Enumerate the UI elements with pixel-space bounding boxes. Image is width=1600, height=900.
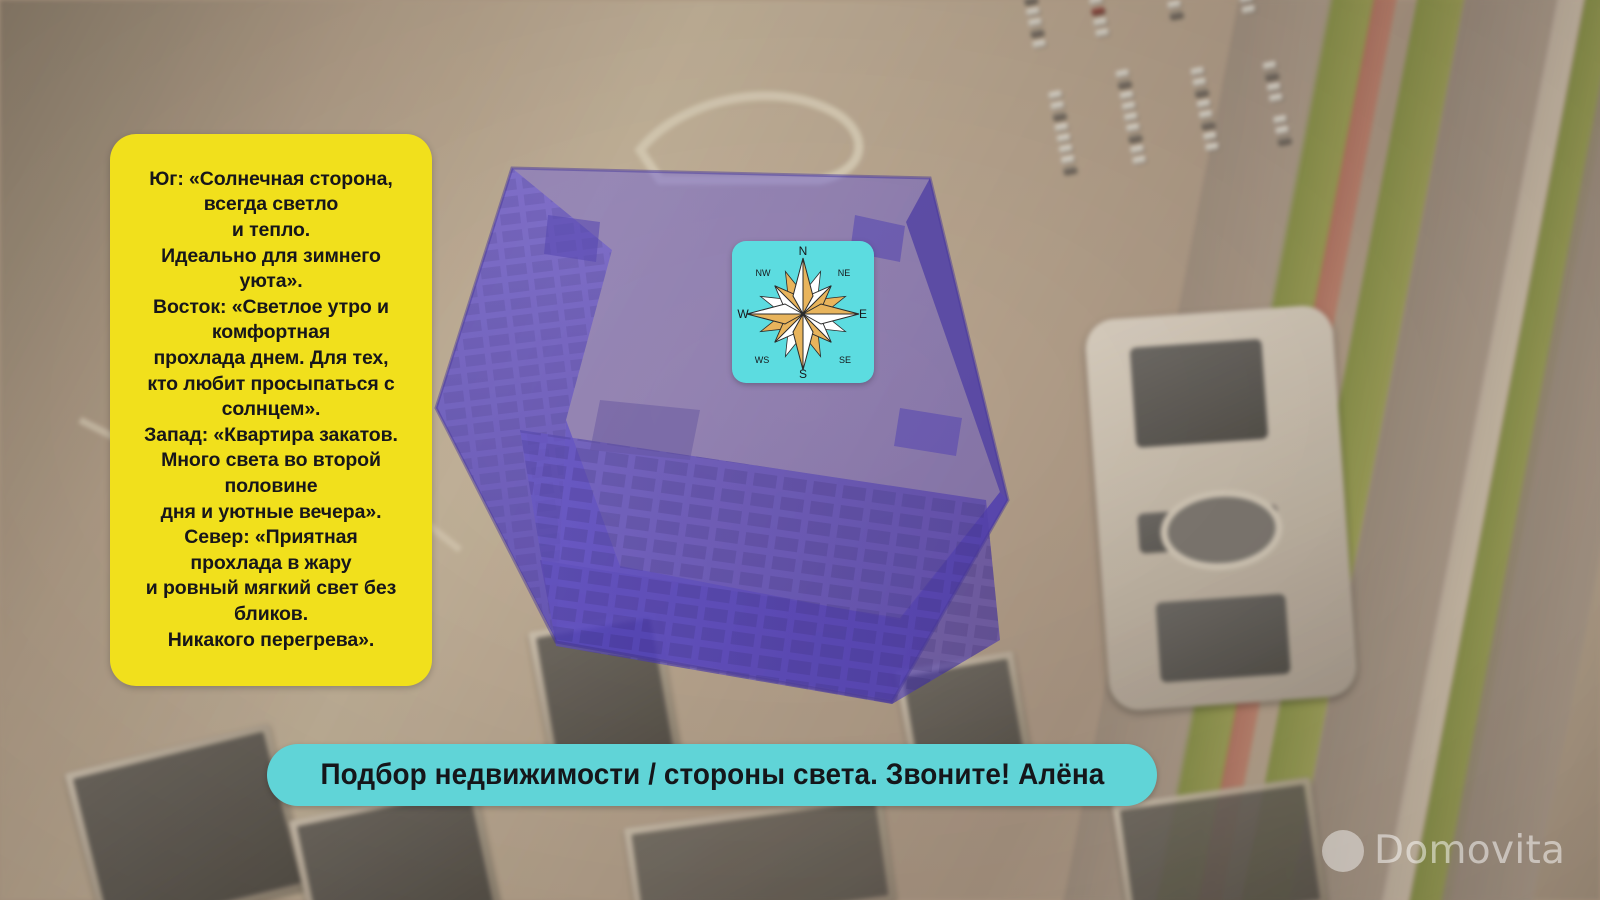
compass-directions-info-card: Юг: «Солнечная сторона, всегда светло и … [110, 134, 432, 686]
compass-rose-icon: N NE E SE S WS W NW [732, 241, 874, 383]
cta-banner-text: Подбор недвижимости / стороны света. Зво… [320, 758, 1104, 792]
compass-label-south: S [799, 367, 807, 381]
compass-label-northeast: NE [838, 268, 851, 278]
compass-label-southeast: SE [839, 355, 851, 365]
compass-rose-card: N NE E SE S WS W NW [732, 241, 874, 383]
circular-courtyard [1158, 486, 1285, 574]
domovita-watermark: Domovita [1322, 828, 1565, 873]
compass-label-east: E [859, 307, 867, 321]
watermark-text: Domovita [1374, 828, 1565, 873]
call-to-action-banner[interactable]: Подбор недвижимости / стороны света. Зво… [267, 744, 1157, 806]
courtyard-building-complex [1084, 304, 1359, 712]
compass-label-southwest: WS [755, 355, 770, 365]
courtyard [1155, 594, 1290, 683]
footpath [620, 40, 920, 200]
info-card-text: Юг: «Солнечная сторона, всегда светло и … [134, 167, 408, 653]
compass-label-northwest: NW [756, 268, 771, 278]
compass-label-west: W [737, 307, 749, 321]
promo-image-canvas: Юг: «Солнечная сторона, всегда светло и … [0, 0, 1600, 900]
courtyard [1130, 339, 1269, 448]
domovita-logo-icon [1322, 830, 1364, 872]
compass-label-north: N [799, 244, 808, 258]
